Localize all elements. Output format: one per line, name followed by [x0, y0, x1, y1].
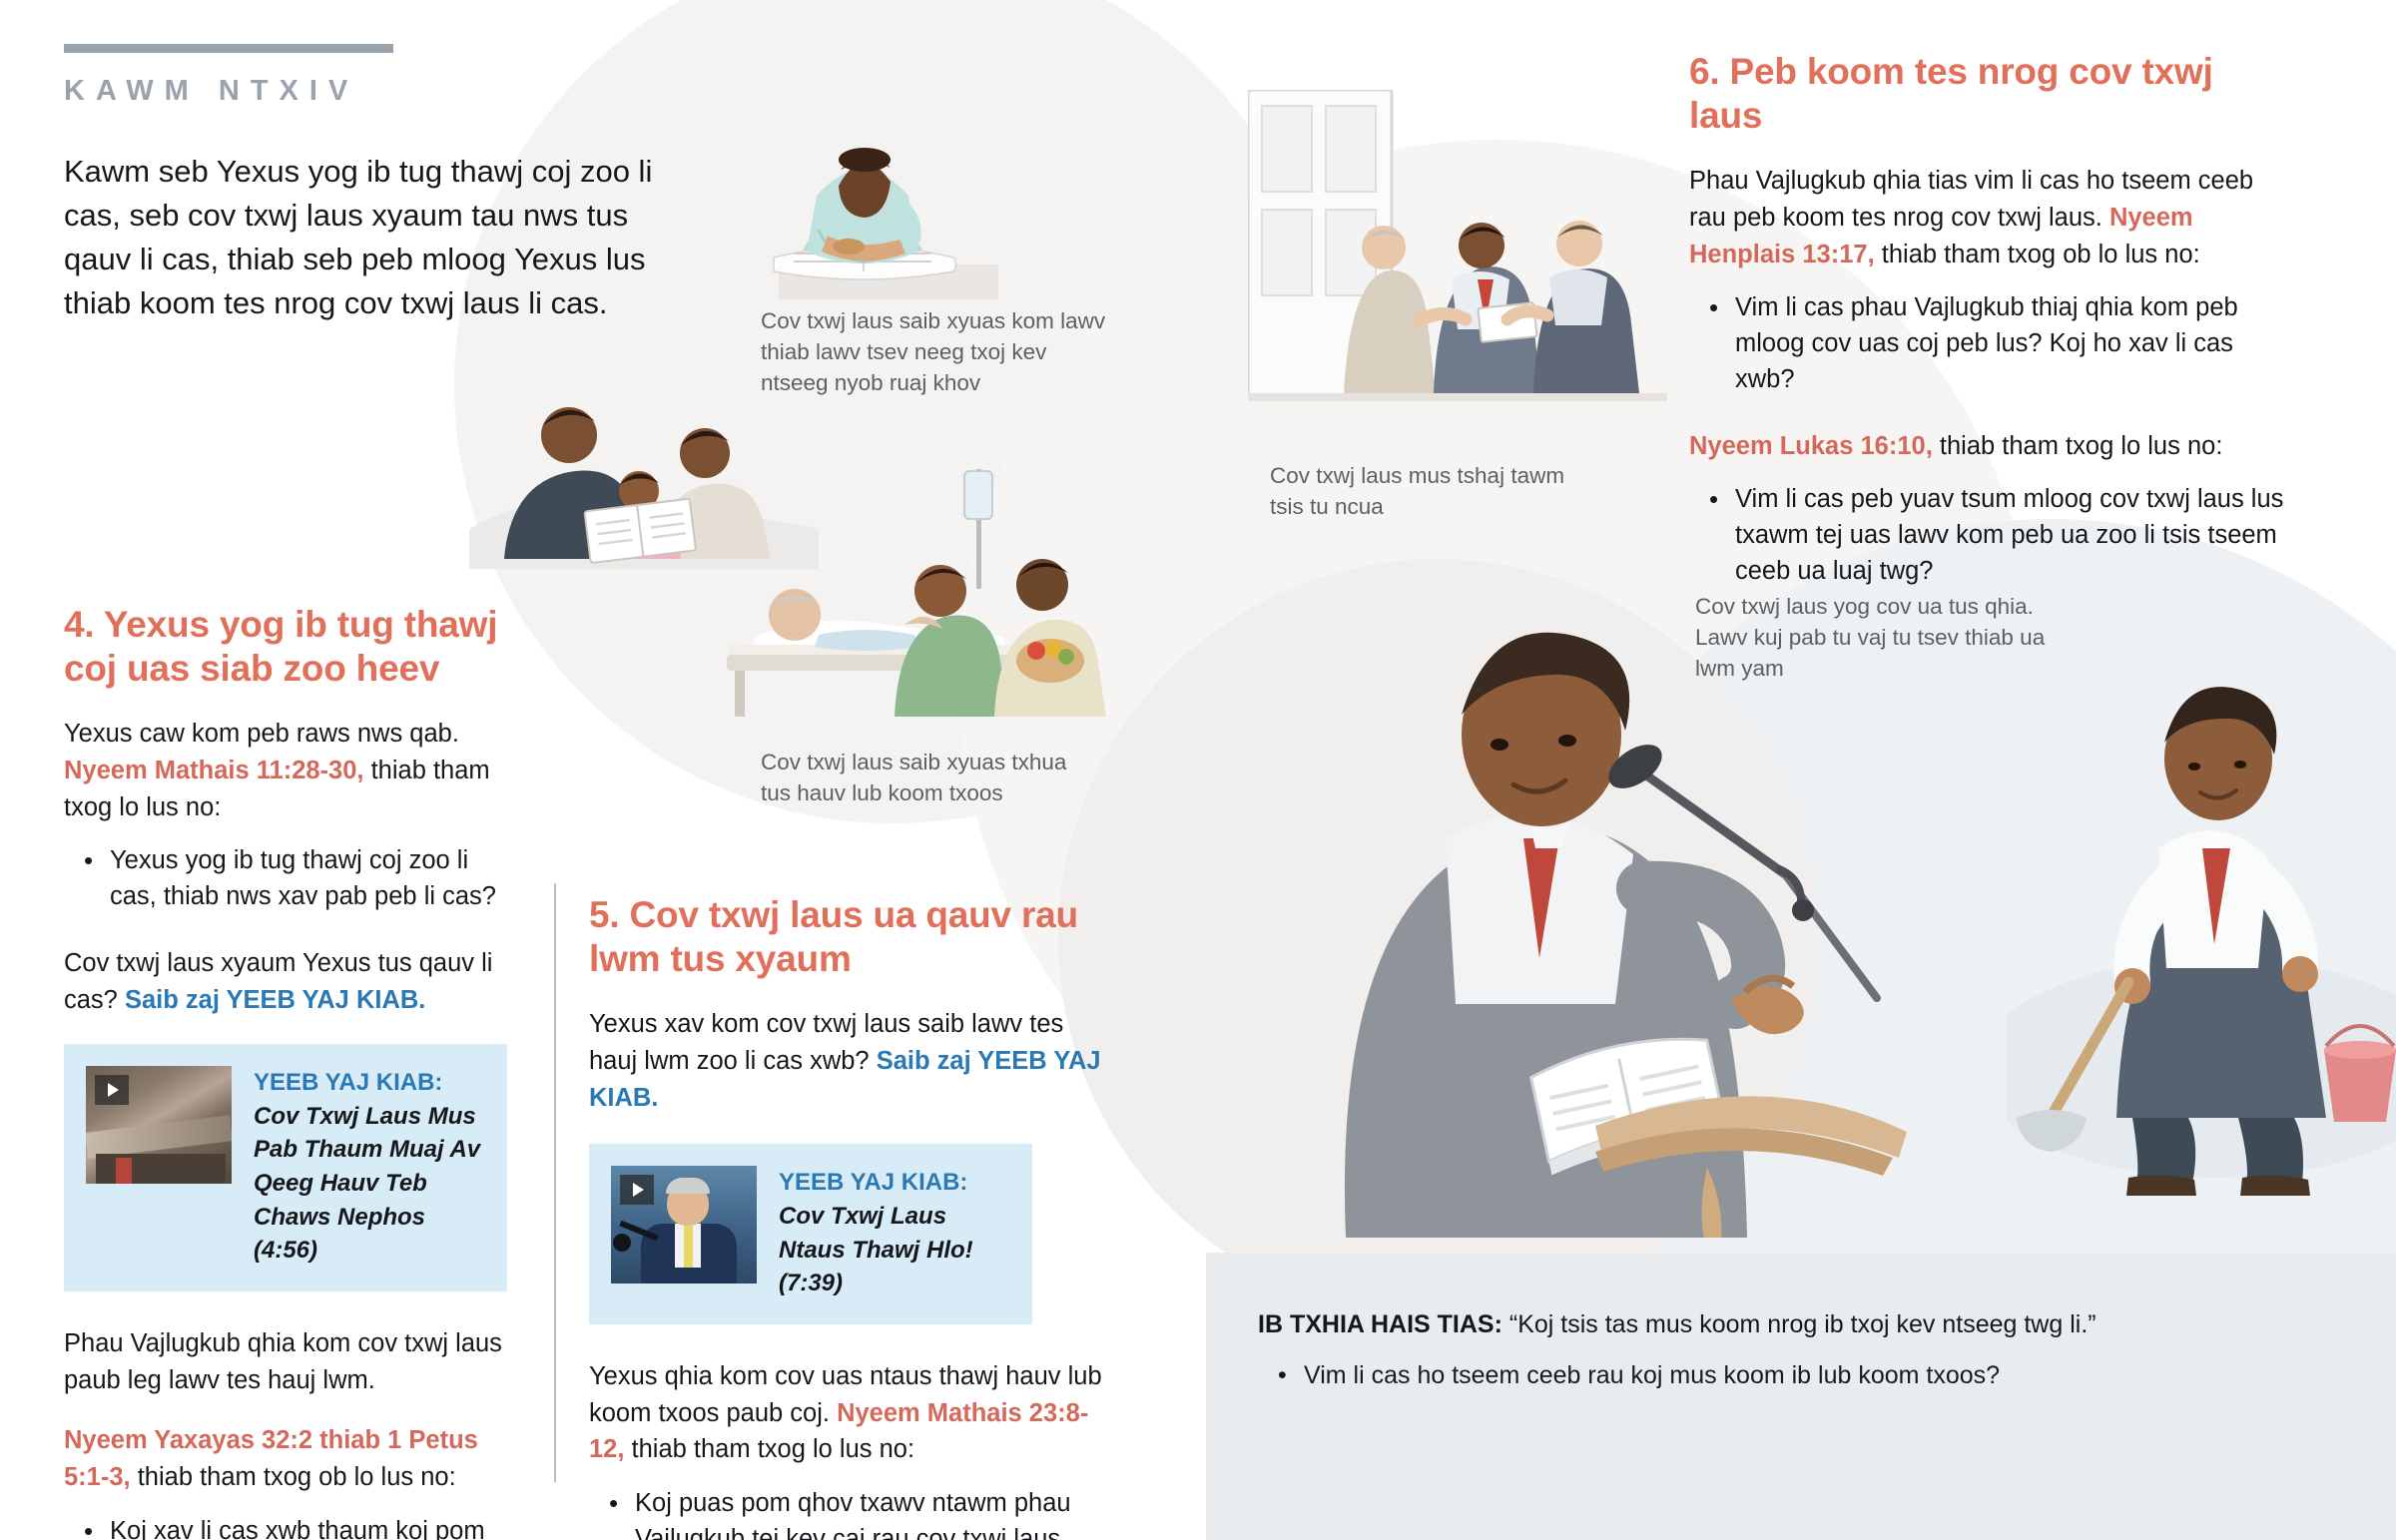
play-icon[interactable]: [620, 1175, 654, 1205]
section-4-question-list-2: Koj xav li cas xwb thaum koj pom cov txw…: [64, 1514, 515, 1540]
s6-p1-text-b: thiab tham txog ob lo lus no:: [1875, 241, 2200, 268]
s4-p4-text: thiab tham txog ob lo lus no:: [131, 1463, 456, 1491]
masthead: KAWM NTXIV: [64, 44, 683, 108]
section-6-paragraph-1: Phau Vajlugkub qhia tias vim li cas ho t…: [1689, 163, 2288, 272]
caption-speaker: Cov txwj laus yog cov ua tus qhia. Lawv …: [1695, 591, 2075, 684]
video-caption: YEEB YAJ KIAB: Cov Txwj Laus Mus Pab Tha…: [254, 1066, 481, 1268]
section-4-title: 4. Yexus yog ib tug thawj coj uas siab z…: [64, 603, 515, 690]
video-label: YEEB YAJ KIAB:: [254, 1069, 442, 1096]
page-root: KAWM NTXIV Kawm seb Yexus yog ib tug tha…: [0, 0, 2396, 1540]
objection-quote: “Koj tsis tas mus koom nrog ib txoj kev …: [1509, 1310, 2096, 1338]
section-4-paragraph-3: Phau Vajlugkub qhia kom cov txwj laus pa…: [64, 1325, 515, 1398]
caption-door: Cov txwj laus mus tshaj tawm tsis tu ncu…: [1270, 460, 1569, 522]
section-6-question-list-2: Vim li cas peb yuav tsum mloog cov txwj …: [1689, 482, 2288, 589]
caption-hospital: Cov txwj laus saib xyuas txhua tus hauv …: [761, 747, 1100, 808]
objection-panel: IB TXHIA HAIS TIAS: “Koj tsis tas mus ko…: [1206, 1253, 2396, 1540]
list-item: Yexus yog ib tug thawj coj zoo li cas, t…: [110, 843, 515, 914]
video-callout-section-4[interactable]: YEEB YAJ KIAB: Cov Txwj Laus Mus Pab Tha…: [64, 1044, 507, 1291]
s5-p2-text-b: thiab tham txog lo lus no:: [624, 1435, 914, 1463]
section-5-question-list: Koj puas pom qhov txawv ntawm phau Vajlu…: [589, 1486, 1118, 1540]
caption-study: Cov txwj laus saib xyuas kom lawv thiab …: [761, 305, 1120, 398]
list-item: Koj xav li cas xwb thaum koj pom cov txw…: [110, 1514, 515, 1540]
list-item: Vim li cas phau Vajlugkub thiaj qhia kom…: [1735, 290, 2288, 397]
illustration-door-ministry: [1248, 90, 1667, 419]
video-title: Cov Txwj Laus Ntaus Thawj Hlo! (7:39): [779, 1203, 973, 1296]
list-item: Koj puas pom qhov txawv ntawm phau Vajlu…: [635, 1486, 1118, 1540]
section-4-paragraph-1: Yexus caw kom peb raws nws qab. Nyeem Ma…: [64, 716, 515, 825]
objection-lead: IB TXHIA HAIS TIAS: “Koj tsis tas mus ko…: [1258, 1307, 2396, 1342]
column-divider: [554, 883, 556, 1482]
video-thumbnail-speaker[interactable]: [611, 1166, 757, 1283]
s6-p2-text: thiab tham txog lo lus no:: [1933, 432, 2223, 460]
list-item: Vim li cas ho tseem ceeb rau koj mus koo…: [1304, 1358, 2396, 1393]
illustration-elder-studying: [699, 0, 1028, 299]
list-item: Vim li cas peb yuav tsum mloog cov txwj …: [1735, 482, 2288, 589]
video-title: Cov Txwj Laus Mus Pab Thaum Muaj Av Qeeg…: [254, 1103, 480, 1264]
play-icon[interactable]: [95, 1075, 129, 1105]
objection-question-list: Vim li cas ho tseem ceeb rau koj mus koo…: [1258, 1358, 2396, 1393]
video-thumbnail-earthquake[interactable]: [86, 1066, 232, 1184]
section-6: 6. Peb koom tes nrog cov txwj laus Phau …: [1689, 50, 2288, 601]
section-5: 5. Cov txwj laus ua qauv rau lwm tus xya…: [589, 893, 1118, 1540]
section-6-paragraph-2: Nyeem Lukas 16:10, thiab tham txog lo lu…: [1689, 428, 2288, 465]
video-callout-section-5[interactable]: YEEB YAJ KIAB: Cov Txwj Laus Ntaus Thawj…: [589, 1144, 1032, 1323]
illustration-man-mopping: [2007, 599, 2396, 1198]
section-6-question-list-1: Vim li cas phau Vajlugkub thiaj qhia kom…: [1689, 290, 2288, 397]
s6-p2-scripture-ref[interactable]: Nyeem Lukas 16:10,: [1689, 432, 1933, 460]
section-4-paragraph-2: Cov txwj laus xyaum Yexus tus qauv li ca…: [64, 945, 515, 1018]
section-5-title: 5. Cov txwj laus ua qauv rau lwm tus xya…: [589, 893, 1118, 980]
section-5-paragraph-1: Yexus xav kom cov txwj laus saib lawv te…: [589, 1006, 1118, 1116]
page-kicker: KAWM NTXIV: [64, 75, 683, 108]
section-4: 4. Yexus yog ib tug thawj coj uas siab z…: [64, 603, 515, 1540]
intro-paragraph: Kawm seb Yexus yog ib tug thawj coj zoo …: [64, 150, 683, 325]
objection-label: IB TXHIA HAIS TIAS:: [1258, 1310, 1502, 1338]
section-4-paragraph-4: Nyeem Yaxayas 32:2 thiab 1 Petus 5:1-3, …: [64, 1422, 515, 1495]
s4-p1-text-a: Yexus caw kom peb raws nws qab.: [64, 720, 459, 748]
video-label: YEEB YAJ KIAB:: [779, 1169, 967, 1196]
illustration-hospital-visit: [699, 449, 1118, 739]
section-6-title: 6. Peb koom tes nrog cov txwj laus: [1689, 50, 2288, 137]
masthead-rule: [64, 44, 393, 53]
s4-p1-scripture-ref[interactable]: Nyeem Mathais 11:28-30,: [64, 757, 364, 784]
video-caption: YEEB YAJ KIAB: Cov Txwj Laus Ntaus Thawj…: [779, 1166, 1006, 1299]
section-5-paragraph-2: Yexus qhia kom cov uas ntaus thawj hauv …: [589, 1358, 1118, 1468]
section-4-question-list-1: Yexus yog ib tug thawj coj zoo li cas, t…: [64, 843, 515, 914]
s4-video-link[interactable]: Saib zaj YEEB YAJ KIAB.: [125, 986, 425, 1014]
